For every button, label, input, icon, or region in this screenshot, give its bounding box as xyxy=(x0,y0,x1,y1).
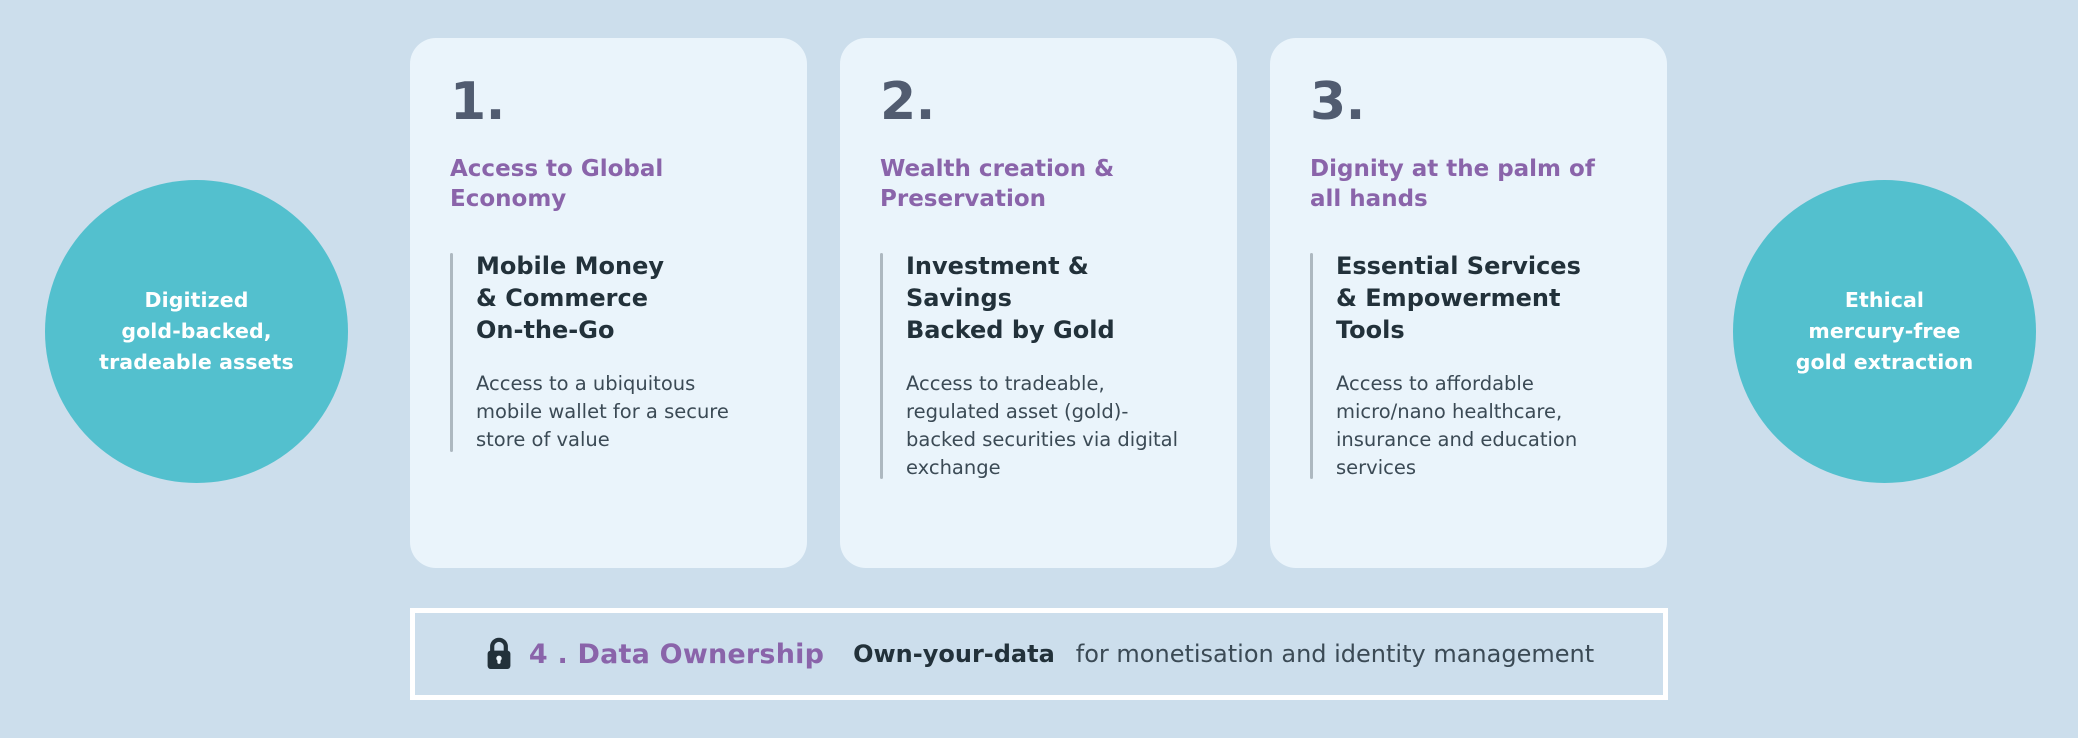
card-subtitle: Access to Global Economy xyxy=(450,154,767,215)
right-highlight-circle: Ethical mercury-free gold extraction xyxy=(1733,180,2036,483)
pillar-card-1[interactable]: 1. Access to Global Economy Mobile Money… xyxy=(410,38,807,568)
pillar-card-2[interactable]: 2. Wealth creation & Preservation Invest… xyxy=(840,38,1237,568)
card-number: 3. xyxy=(1310,76,1627,128)
banner-strong-text: Own-your-data xyxy=(853,640,1055,668)
pillar-cards-row: 1. Access to Global Economy Mobile Money… xyxy=(410,38,1667,568)
left-circle-label: Digitized gold-backed, tradeable assets xyxy=(99,285,294,377)
pillar-card-3[interactable]: 3. Dignity at the palm of all hands Esse… xyxy=(1270,38,1667,568)
banner-description: for monetisation and identity management xyxy=(1076,640,1594,668)
card-body: Access to affordable micro/nano healthca… xyxy=(1336,370,1627,481)
banner-label: 4 . Data Ownership xyxy=(529,639,824,670)
card-body: Access to tradeable, regulated asset (go… xyxy=(906,370,1197,481)
right-circle-label: Ethical mercury-free gold extraction xyxy=(1796,285,1974,377)
card-subtitle: Dignity at the palm of all hands xyxy=(1310,154,1627,215)
card-detail-block: Mobile Money & Commerce On-the-Go Access… xyxy=(450,251,767,454)
card-body: Access to a ubiquitous mobile wallet for… xyxy=(476,370,767,453)
card-number: 1. xyxy=(450,76,767,128)
card-heading: Mobile Money & Commerce On-the-Go xyxy=(476,251,767,347)
lock-icon xyxy=(484,637,514,671)
card-detail-block: Investment & Savings Backed by Gold Acce… xyxy=(880,251,1197,481)
left-highlight-circle: Digitized gold-backed, tradeable assets xyxy=(45,180,348,483)
card-detail-block: Essential Services & Empowerment Tools A… xyxy=(1310,251,1627,481)
infographic-canvas: Digitized gold-backed, tradeable assets … xyxy=(0,0,2078,738)
card-heading: Investment & Savings Backed by Gold xyxy=(906,251,1197,347)
card-subtitle: Wealth creation & Preservation xyxy=(880,154,1197,215)
card-heading: Essential Services & Empowerment Tools xyxy=(1336,251,1627,347)
card-number: 2. xyxy=(880,76,1197,128)
data-ownership-banner[interactable]: 4 . Data Ownership Own-your-data for mon… xyxy=(410,608,1668,700)
